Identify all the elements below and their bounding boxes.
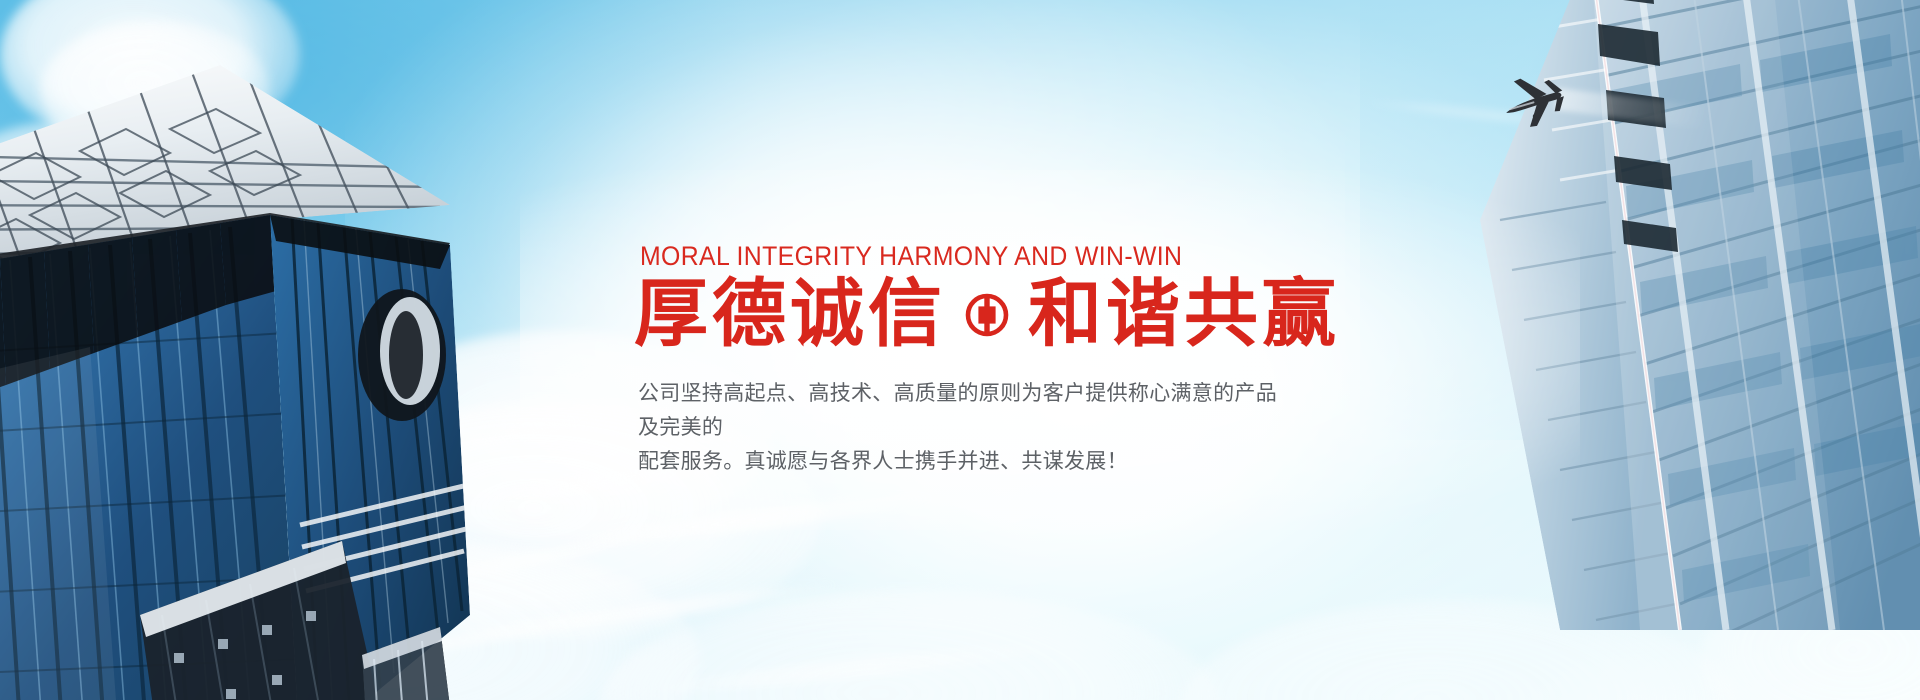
lede-paragraph: 公司坚持高起点、高技术、高质量的原则为客户提供称心满意的产品及完美的 配套服务。… (638, 376, 1298, 478)
airplane (1496, 72, 1570, 130)
hero-copy: MORAL INTEGRITY HARMONY AND WIN-WIN 厚德诚信… (634, 243, 1414, 478)
company-emblem-icon (964, 292, 1010, 338)
headline-left-text: 厚德诚信 (634, 276, 946, 354)
eyebrow-text: MORAL INTEGRITY HARMONY AND WIN-WIN (640, 243, 1352, 270)
lede-line-2: 配套服务。真诚愿与各界人士携手并进、共谋发展！ (638, 444, 1298, 478)
headline: 厚德诚信 和谐共赢 (634, 276, 1414, 354)
hero-banner: MORAL INTEGRITY HARMONY AND WIN-WIN 厚德诚信… (0, 0, 1920, 700)
headline-right-text: 和谐共赢 (1028, 276, 1340, 354)
glass-skyscraper-left (0, 55, 530, 700)
lede-line-1: 公司坚持高起点、高技术、高质量的原则为客户提供称心满意的产品及完美的 (638, 376, 1298, 444)
